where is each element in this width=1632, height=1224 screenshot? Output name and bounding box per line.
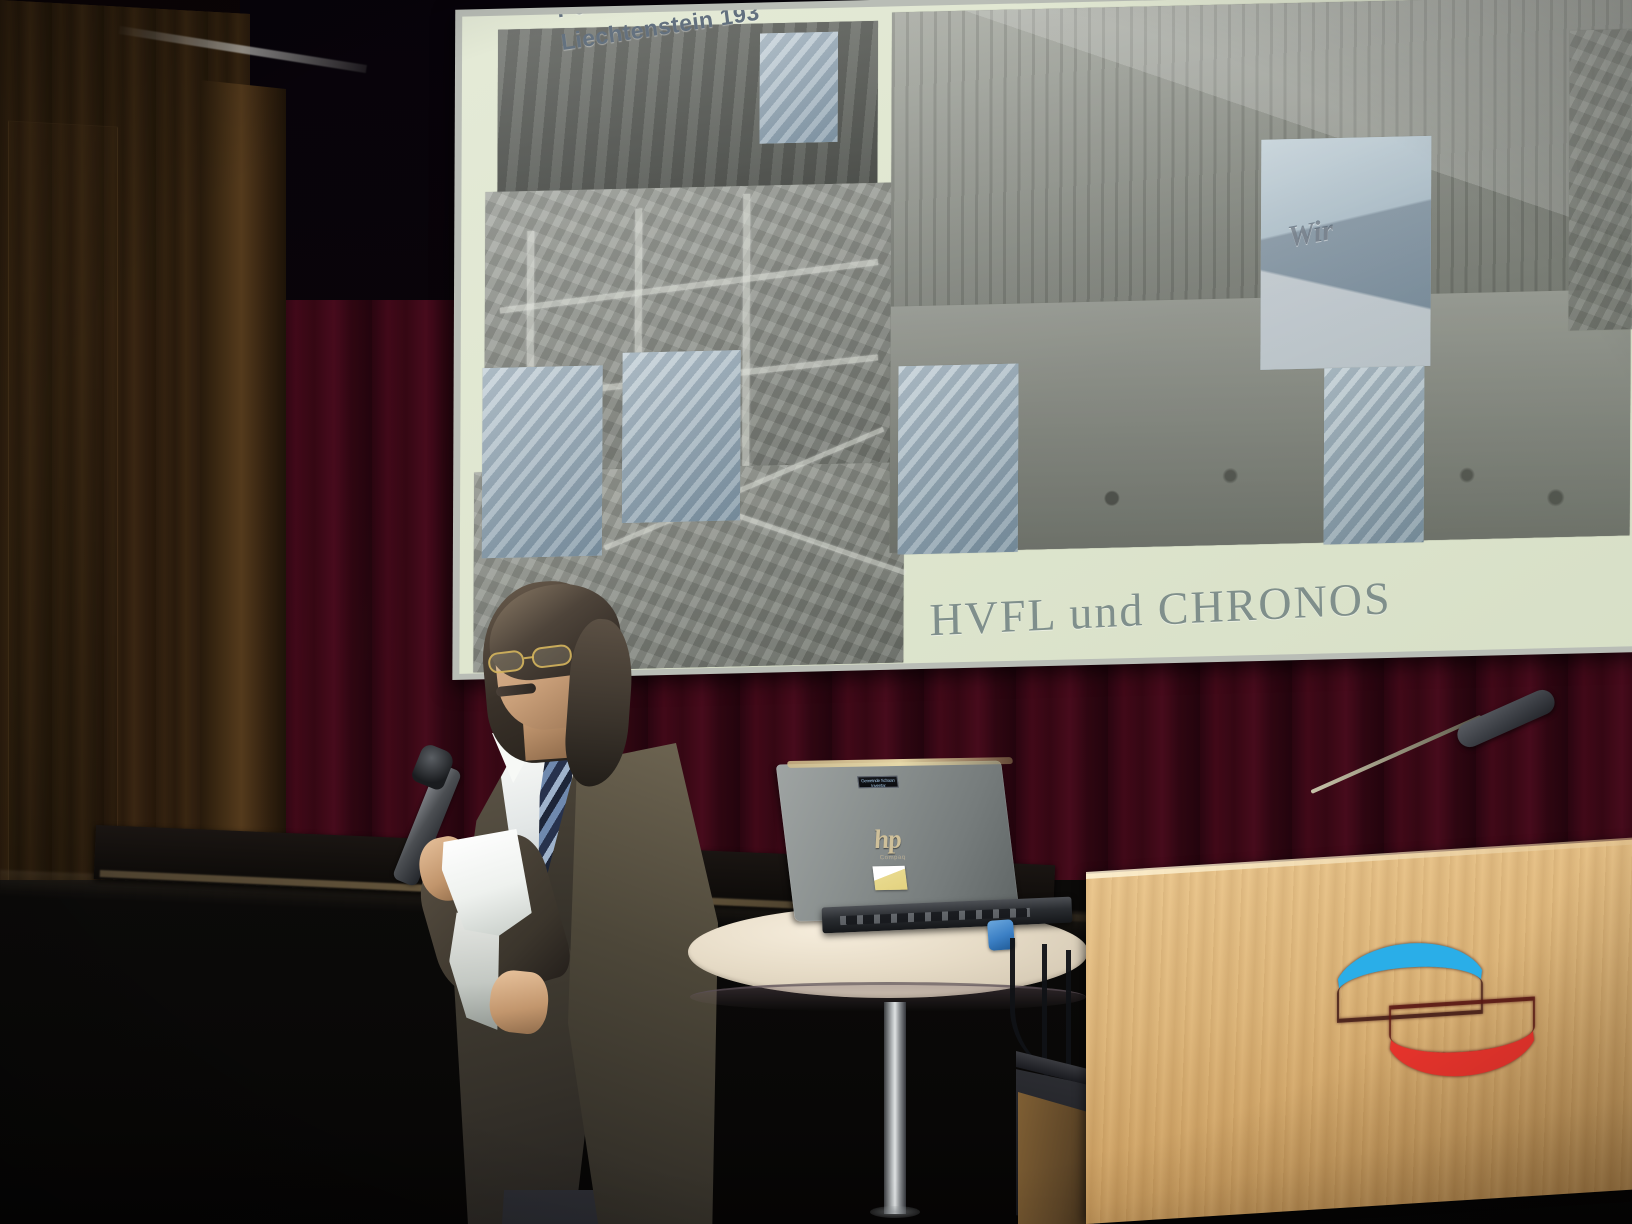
photo-blue-overlay-right (898, 364, 1019, 555)
photo-right-strip (1568, 29, 1632, 331)
wave-logo (1326, 935, 1536, 1078)
compaq-sublogo: Compaq (880, 855, 907, 861)
table-pedestal (884, 1002, 906, 1214)
podium-side-panel (1018, 1092, 1094, 1224)
asset-label-sticker (872, 866, 907, 890)
banner-script-text: Wir (1286, 213, 1336, 255)
inventory-sticker: Gemeinde Schaan Inventar (857, 776, 899, 789)
hand-holding-notes (487, 968, 551, 1036)
wood-pillar (200, 80, 286, 919)
photo-blue-banner-sign: Wir (1260, 136, 1431, 370)
inventory-sticker-text: Gemeinde Schaan Inventar (858, 777, 898, 789)
photo-blue-overlay-top (760, 32, 838, 144)
lens-right (531, 643, 573, 669)
presentation-photo-scene: Wir Peter Geig Liechtenstein 193 HVFL un… (0, 0, 1632, 1224)
projected-slide: Wir Peter Geig Liechtenstein 193 HVFL un… (459, 0, 1632, 674)
photo-blue-overlay-couple (1324, 366, 1425, 544)
hp-logo: hp (872, 824, 902, 855)
photo-blue-overlay-children (622, 350, 741, 523)
photo-blue-overlay-left (482, 365, 603, 558)
slide-footer-text: HVFL und CHRONOS (929, 571, 1392, 646)
presenter-figure (392, 575, 722, 1224)
speaker-podium (1016, 862, 1632, 1224)
lens-left (487, 649, 525, 674)
